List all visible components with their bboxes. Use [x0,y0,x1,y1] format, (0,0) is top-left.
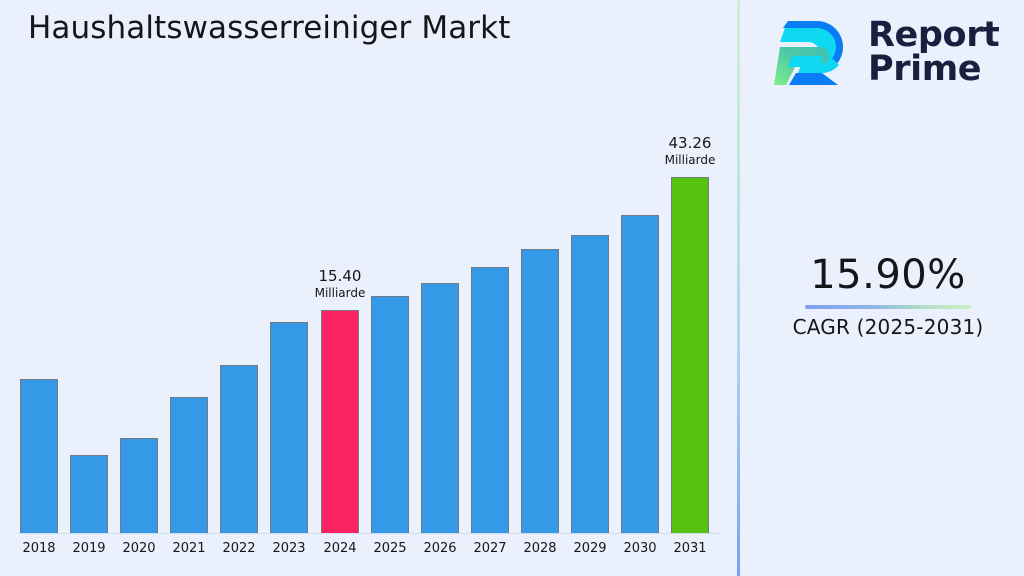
logo-word-line2: Prime [868,52,999,86]
bar-value-label-2024: 15.40Milliarde [280,267,400,301]
bar-value-number: 43.26 [630,134,750,153]
bar-2029 [571,235,609,533]
bar-2026 [421,283,459,533]
cagr-divider-rule [805,305,971,309]
bar-2030 [621,215,659,533]
cagr-panel: 15.90% CAGR (2025-2031) [760,252,1016,339]
logo-word-line1: Report [868,18,999,52]
bar-2019 [70,455,108,533]
panel-divider [737,0,740,576]
report-prime-r-mark-icon [772,15,854,89]
chart-page: Haushaltswasserreiniger Markt [0,0,1024,576]
bar-value-unit: Milliarde [630,153,750,168]
bar-2028 [521,249,559,533]
bar-2023 [270,322,308,533]
logo-wordmark: Report Prime [868,18,999,87]
bar-2022 [220,365,258,533]
bar-2031 [671,177,709,533]
x-tick-2031: 2031 [660,541,720,556]
cagr-label: CAGR (2025-2031) [760,315,1016,339]
bar-value-number: 15.40 [280,267,400,286]
bar-value-label-2031: 43.26Milliarde [630,134,750,168]
bar-2021 [170,397,208,533]
cagr-value: 15.90% [760,252,1016,298]
bar-2025 [371,296,409,533]
bar-chart: 15.40Milliarde43.26Milliarde 20182019202… [0,0,737,576]
x-axis-line [18,533,720,534]
bar-2018 [20,379,58,533]
bar-value-unit: Milliarde [280,286,400,301]
bar-2020 [120,438,158,533]
report-prime-logo: Report Prime [772,8,1012,96]
bar-2027 [471,267,509,533]
bar-2024 [321,310,359,533]
